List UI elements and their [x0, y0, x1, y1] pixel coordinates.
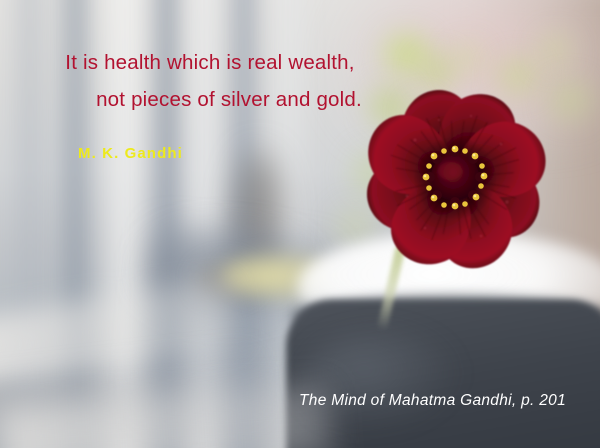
source-citation: The Mind of Mahatma Gandhi, p. 201 — [0, 392, 566, 410]
green-bokeh-5 — [538, 34, 572, 66]
quote-poster: It is health which is real wealth, not p… — [0, 0, 600, 448]
flower-disc-highlight — [438, 162, 462, 180]
citation-source: The Mind of Mahatma Gandhi — [299, 392, 512, 409]
green-bokeh-3 — [452, 44, 482, 72]
quote-line-1: It is health which is real wealth, — [0, 44, 420, 81]
quote-attribution: M. K. Gandhi — [78, 145, 183, 162]
quote-line-2: not pieces of silver and gold. — [0, 81, 420, 118]
citation-page: , p. 201 — [512, 392, 566, 409]
quote-text: It is health which is real wealth, not p… — [0, 44, 420, 118]
